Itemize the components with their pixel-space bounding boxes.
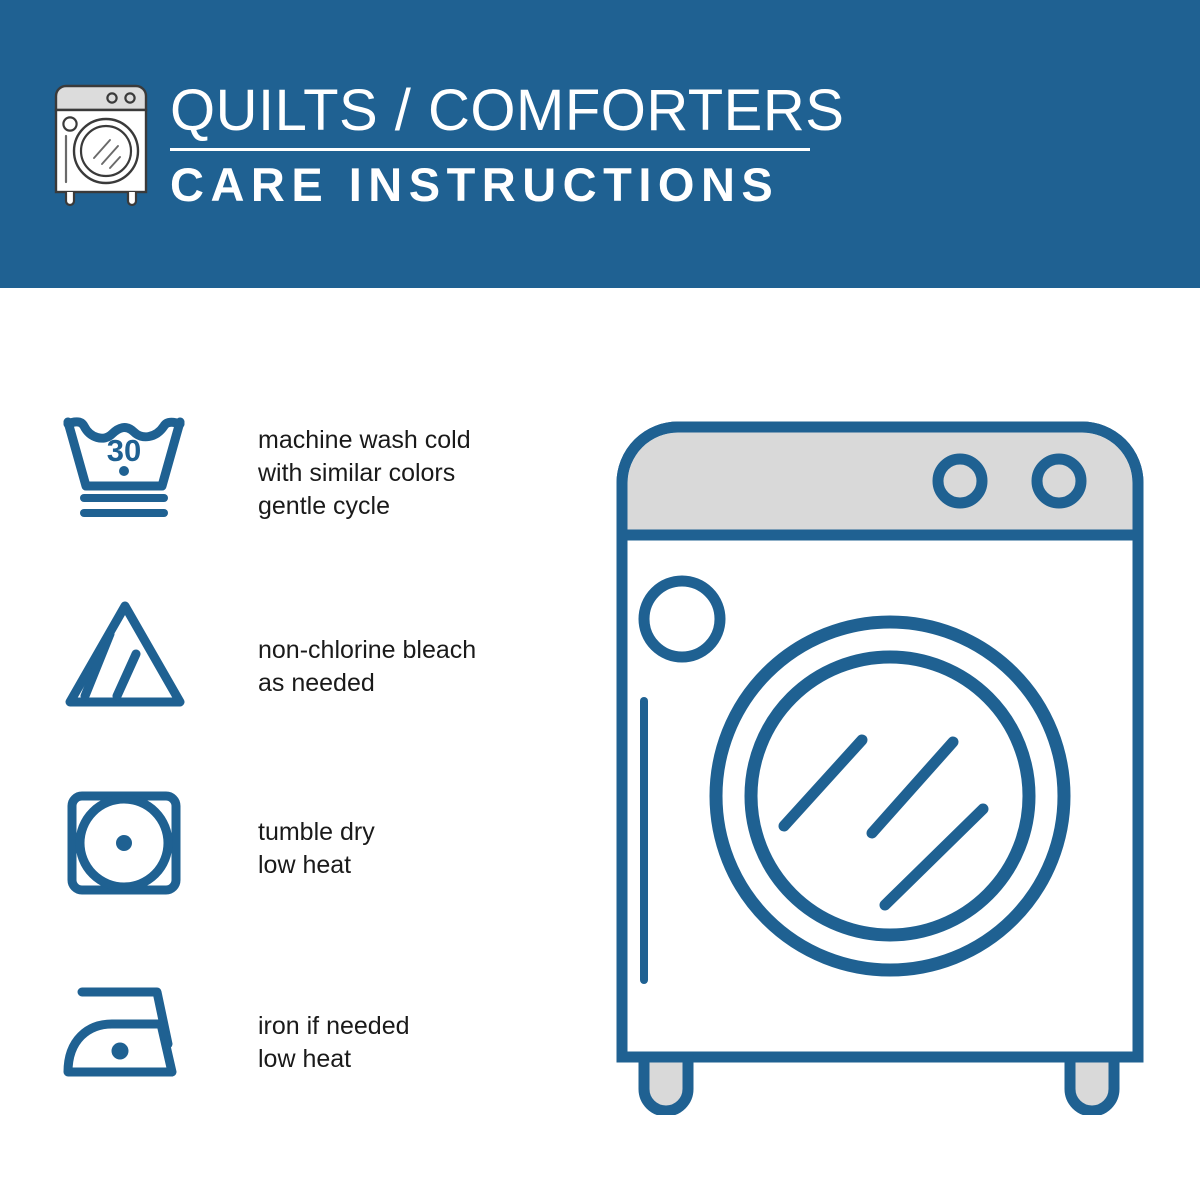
care-label-line: machine wash cold <box>258 424 530 457</box>
header-banner: QUILTS / COMFORTERS CARE INSTRUCTIONS <box>0 0 1200 288</box>
care-label-machine-wash: machine wash cold with similar colors ge… <box>190 408 530 523</box>
care-label-line: with similar colors <box>258 457 530 490</box>
leg-right <box>1070 1057 1114 1111</box>
care-label-line: low heat <box>258 849 530 882</box>
care-row-machine-wash: 30 machine wash cold with similar colors… <box>60 408 530 596</box>
care-label-line: as needed <box>258 667 530 700</box>
control-panel <box>628 433 1133 536</box>
care-label-line: gentle cycle <box>258 490 530 523</box>
care-label-non-chlorine-bleach: non-chlorine bleach as needed <box>190 596 530 700</box>
iron-low-heat-icon <box>60 972 190 1087</box>
wash-tub-30-gentle-icon: 30 <box>60 408 190 523</box>
svg-text:30: 30 <box>107 433 141 468</box>
non-chlorine-bleach-triangle-icon <box>60 596 190 711</box>
header-title-block: QUILTS / COMFORTERS CARE INSTRUCTIONS <box>170 78 844 211</box>
care-label-line: tumble dry <box>258 816 530 849</box>
header-content: QUILTS / COMFORTERS CARE INSTRUCTIONS <box>48 78 844 211</box>
tumble-dry-low-heat-icon <box>60 784 190 899</box>
care-row-tumble-dry: tumble dry low heat <box>60 784 530 972</box>
care-label-tumble-dry: tumble dry low heat <box>190 784 530 882</box>
care-instruction-list: 30 machine wash cold with similar colors… <box>60 408 530 1160</box>
care-instructions-page: QUILTS / COMFORTERS CARE INSTRUCTIONS 30 <box>0 0 1200 1200</box>
care-label-iron: iron if needed low heat <box>190 972 530 1076</box>
care-label-line: non-chlorine bleach <box>258 634 530 667</box>
page-subtitle: CARE INSTRUCTIONS <box>170 159 844 211</box>
page-title: QUILTS / COMFORTERS <box>170 80 844 142</box>
front-load-washing-machine-illustration <box>600 405 1160 1115</box>
care-row-iron: iron if needed low heat <box>60 972 530 1160</box>
care-label-line: low heat <box>258 1043 530 1076</box>
care-row-non-chlorine-bleach: non-chlorine bleach as needed <box>60 596 530 784</box>
title-divider <box>170 148 810 151</box>
leg-left <box>644 1057 688 1111</box>
washing-machine-logo-icon <box>48 78 154 208</box>
care-label-line: iron if needed <box>258 1010 530 1043</box>
